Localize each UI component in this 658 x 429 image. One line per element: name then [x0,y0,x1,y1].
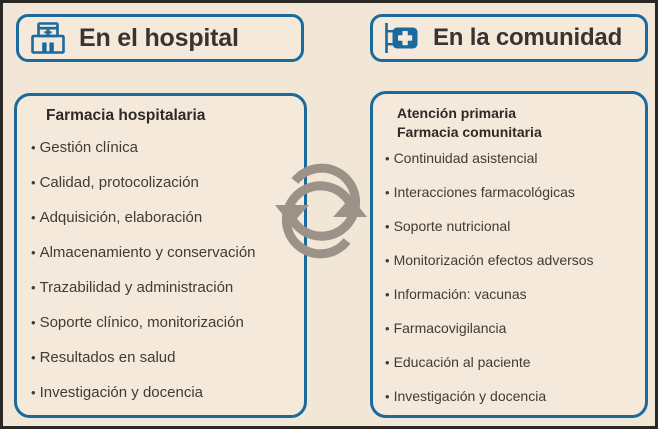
list-item: • Monitorización efectos adversos [385,252,647,286]
bullet-dot-icon: • [31,141,36,154]
list-item-label: Adquisición, elaboración [40,209,203,226]
diagram-canvas: En el hospital En la comunidad Farmacia … [0,0,658,429]
bullet-dot-icon: • [31,316,36,329]
panel-left-heading: Farmacia hospitalaria [46,107,205,125]
list-item: • Gestión clínica [31,139,303,174]
list-item: • Soporte clínico, monitorización [31,314,303,349]
list-item: • Almacenamiento y conservación [31,244,303,279]
list-item-label: Investigación y docencia [40,384,203,401]
list-item: • Información: vacunas [385,286,647,320]
bullet-dot-icon: • [385,152,390,165]
community-pharmacy-list: • Continuidad asistencial • Interaccione… [385,150,647,422]
list-item: • Trazabilidad y administración [31,279,303,314]
header-hospital: En el hospital [16,14,304,62]
list-item-label: Educación al paciente [394,354,531,370]
list-item-label: Información: vacunas [394,286,527,302]
panel-right-heading: Atención primaria Farmacia comunitaria [397,104,542,142]
list-item: • Calidad, protocolización [31,174,303,209]
hospital-pharmacy-list: • Gestión clínica • Calidad, protocoliza… [31,139,303,419]
panel-primary-care-community-pharmacy: Atención primaria Farmacia comunitaria •… [370,91,648,418]
list-item: • Investigación y docencia [385,388,647,422]
list-item-label: Monitorización efectos adversos [394,252,594,268]
bullet-dot-icon: • [31,211,36,224]
pharmacy-cross-sign-icon [383,20,421,56]
list-item-label: Farmacovigilancia [394,320,507,336]
bullet-dot-icon: • [385,356,390,369]
bullet-dot-icon: • [31,246,36,259]
list-item-label: Soporte nutricional [394,218,511,234]
list-item: • Soporte nutricional [385,218,647,252]
bullet-dot-icon: • [385,220,390,233]
list-item-label: Investigación y docencia [394,388,547,404]
header-community: En la comunidad [370,14,648,62]
list-item: • Educación al paciente [385,354,647,388]
list-item-label: Resultados en salud [40,349,176,366]
list-item: • Resultados en salud [31,349,303,384]
list-item-label: Almacenamiento y conservación [40,244,256,261]
bullet-dot-icon: • [385,288,390,301]
list-item: • Farmacovigilancia [385,320,647,354]
list-item-label: Interacciones farmacológicas [394,184,575,200]
bullet-dot-icon: • [385,390,390,403]
bullet-dot-icon: • [31,281,36,294]
list-item: • Interacciones farmacológicas [385,184,647,218]
bullet-dot-icon: • [385,254,390,267]
bullet-dot-icon: • [31,386,36,399]
bullet-dot-icon: • [385,186,390,199]
list-item: • Continuidad asistencial [385,150,647,184]
bullet-dot-icon: • [31,176,36,189]
list-item-label: Gestión clínica [40,139,138,156]
bullet-dot-icon: • [385,322,390,335]
list-item-label: Trazabilidad y administración [40,279,234,296]
list-item-label: Calidad, protocolización [40,174,199,191]
list-item-label: Continuidad asistencial [394,150,538,166]
header-community-title: En la comunidad [433,26,622,50]
header-hospital-title: En el hospital [79,26,239,51]
panel-right-heading-line2: Farmacia comunitaria [397,123,542,142]
list-item-label: Soporte clínico, monitorización [40,314,244,331]
hospital-building-icon [29,20,67,56]
panel-right-heading-line1: Atención primaria [397,104,542,123]
list-item: • Investigación y docencia [31,384,303,419]
bullet-dot-icon: • [31,351,36,364]
panel-hospital-pharmacy: Farmacia hospitalaria • Gestión clínica … [14,93,307,418]
list-item: • Adquisición, elaboración [31,209,303,244]
